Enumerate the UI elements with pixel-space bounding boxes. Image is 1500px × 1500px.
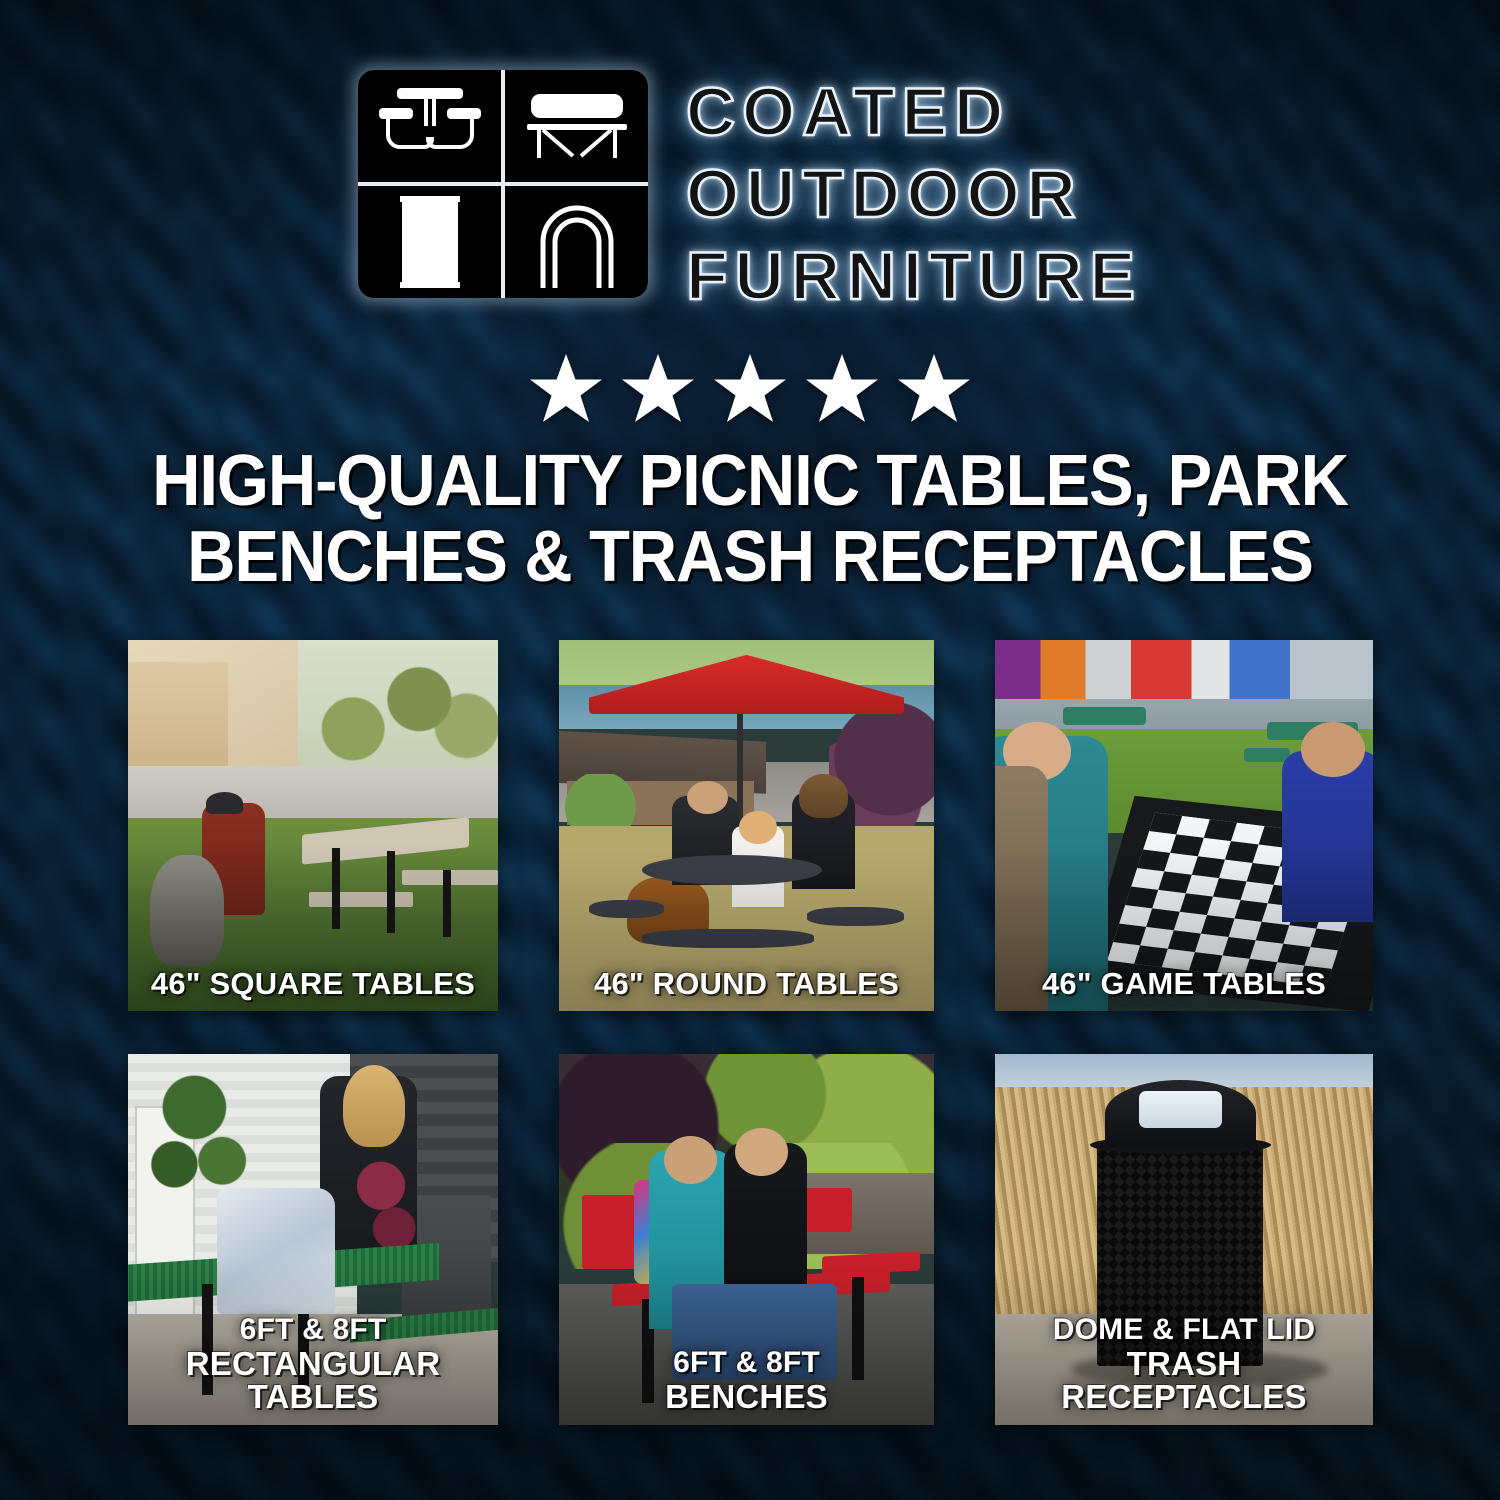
product-caption: 46" ROUND TABLES bbox=[565, 968, 928, 999]
product-tile-benches[interactable]: 6FT & 8FT BENCHES bbox=[559, 1054, 934, 1425]
star-icon bbox=[897, 352, 971, 424]
caption-line-2: RECTANGULAR TABLES bbox=[134, 1347, 492, 1413]
poster-content: COATED OUTDOOR FURNITURE HIGH-QUALITY PI… bbox=[0, 0, 1500, 1500]
trash-receptacle-icon bbox=[358, 186, 501, 298]
product-tile-game-tables[interactable]: 46" GAME TABLES bbox=[995, 640, 1373, 1011]
caption-line-1: 46" ROUND TABLES bbox=[565, 968, 928, 999]
brand-name-line-3: FURNITURE bbox=[686, 236, 1142, 316]
product-grid: 46" SQUARE TABLES bbox=[128, 640, 1373, 1425]
product-tile-round-tables[interactable]: 46" ROUND TABLES bbox=[559, 640, 934, 1011]
product-tile-trash-receptacles[interactable]: DOME & FLAT LID TRASH RECEPTACLES bbox=[995, 1054, 1373, 1425]
star-rating bbox=[0, 352, 1500, 424]
product-caption: 46" GAME TABLES bbox=[1001, 968, 1367, 999]
star-icon bbox=[529, 352, 603, 424]
caption-line-1: 6FT & 8FT bbox=[134, 1315, 492, 1345]
caption-line-2: BENCHES bbox=[565, 1380, 928, 1413]
caption-line-1: DOME & FLAT LID bbox=[1001, 1315, 1367, 1345]
caption-line-2: TRASH RECEPTACLES bbox=[1001, 1347, 1367, 1413]
picnic-table-icon bbox=[358, 70, 501, 182]
caption-line-1: 6FT & 8FT bbox=[565, 1348, 928, 1378]
caption-line-1: 46" GAME TABLES bbox=[1001, 968, 1367, 999]
product-caption: DOME & FLAT LID TRASH RECEPTACLES bbox=[1001, 1315, 1367, 1413]
star-icon bbox=[713, 352, 787, 424]
brand-name: COATED OUTDOOR FURNITURE bbox=[686, 70, 1142, 316]
brand-name-line-1: COATED bbox=[686, 72, 1142, 152]
star-icon bbox=[805, 352, 879, 424]
logo-icon-grid bbox=[358, 70, 648, 298]
product-caption: 46" SQUARE TABLES bbox=[134, 968, 492, 999]
promo-poster: COATED OUTDOOR FURNITURE HIGH-QUALITY PI… bbox=[0, 0, 1500, 1500]
product-tile-square-tables[interactable]: 46" SQUARE TABLES bbox=[128, 640, 498, 1011]
product-tile-rectangular-tables[interactable]: 6FT & 8FT RECTANGULAR TABLES bbox=[128, 1054, 498, 1425]
headline-line-2: BENCHES & TRASH RECEPTACLES bbox=[118, 519, 1383, 595]
product-caption: 6FT & 8FT BENCHES bbox=[565, 1348, 928, 1413]
product-caption: 6FT & 8FT RECTANGULAR TABLES bbox=[134, 1315, 492, 1413]
headline: HIGH-QUALITY PICNIC TABLES, PARK BENCHES… bbox=[118, 443, 1383, 595]
brand-logo: COATED OUTDOOR FURNITURE bbox=[0, 70, 1500, 316]
star-icon bbox=[621, 352, 695, 424]
brand-name-line-2: OUTDOOR bbox=[686, 154, 1142, 234]
bench-icon bbox=[505, 70, 648, 182]
headline-line-1: HIGH-QUALITY PICNIC TABLES, PARK bbox=[118, 443, 1383, 519]
bike-rack-arch-icon bbox=[505, 186, 648, 298]
caption-line-1: 46" SQUARE TABLES bbox=[134, 968, 492, 999]
